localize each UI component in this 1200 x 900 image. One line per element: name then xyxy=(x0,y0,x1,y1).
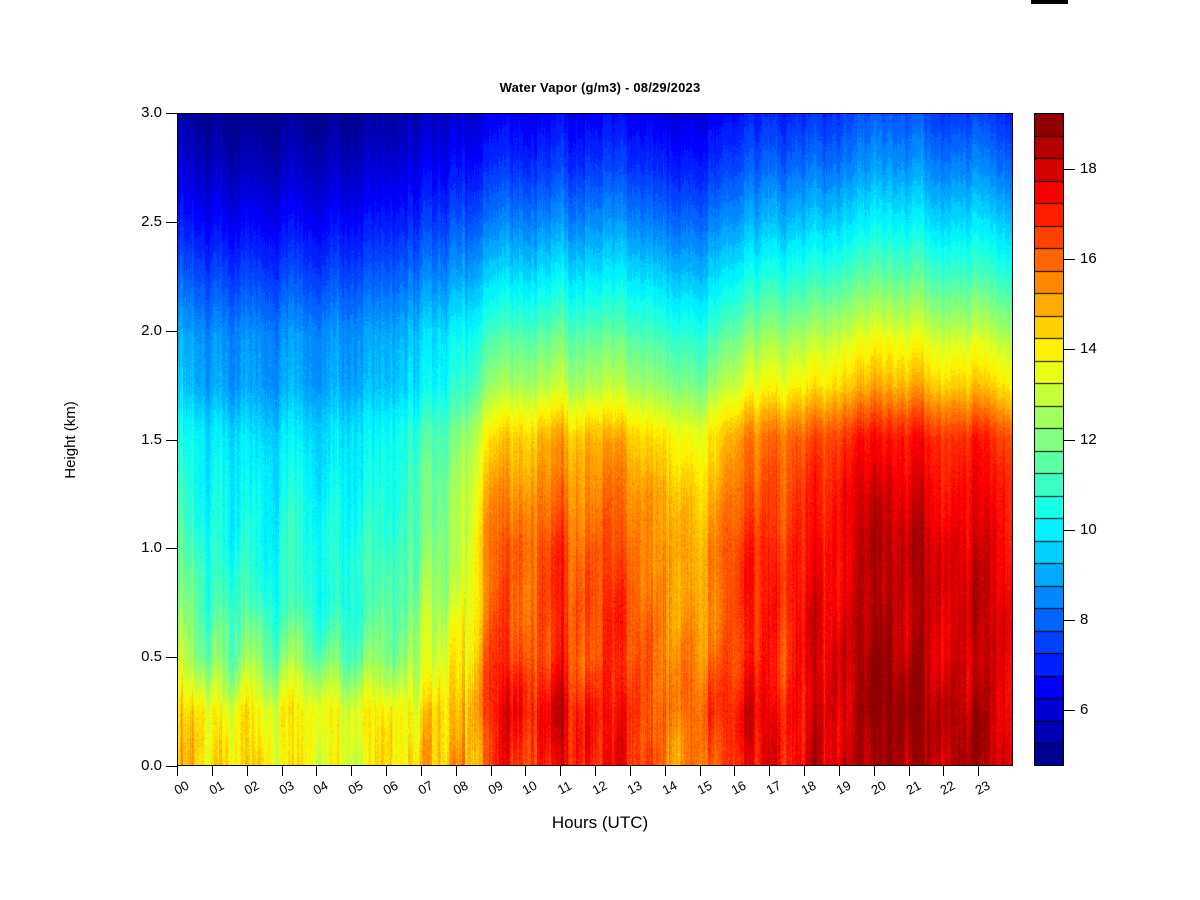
x-tick-label: 09 xyxy=(485,778,505,798)
x-tick-mark xyxy=(769,766,770,776)
x-tick-label: 16 xyxy=(729,778,749,798)
top-edge-artifact xyxy=(1031,0,1068,4)
x-tick-label: 11 xyxy=(555,778,574,798)
colorbar-tick-label: 18 xyxy=(1080,160,1097,177)
x-tick-mark xyxy=(978,766,979,776)
colorbar-tick-mark xyxy=(1064,710,1075,711)
y-tick-label: 3.0 xyxy=(141,104,162,121)
x-tick-mark xyxy=(874,766,875,776)
colorbar-tick-mark xyxy=(1064,620,1075,621)
x-tick-mark xyxy=(630,766,631,776)
x-tick-mark xyxy=(456,766,457,776)
y-tick-mark xyxy=(166,657,177,658)
x-axis-label: Hours (UTC) xyxy=(0,813,1200,833)
y-tick-mark xyxy=(166,766,177,767)
colorbar-tick-mark xyxy=(1064,530,1075,531)
plot-title: Water Vapor (g/m3) - 08/29/2023 xyxy=(0,80,1200,95)
x-tick-label: 03 xyxy=(276,778,296,798)
colorbar-tick-mark xyxy=(1064,349,1075,350)
x-tick-mark xyxy=(177,766,178,776)
x-tick-mark xyxy=(804,766,805,776)
y-tick-mark xyxy=(166,222,177,223)
x-tick-mark xyxy=(943,766,944,776)
x-tick-mark xyxy=(909,766,910,776)
x-tick-label: 08 xyxy=(450,778,470,798)
x-tick-mark xyxy=(560,766,561,776)
x-tick-label: 02 xyxy=(241,778,261,798)
y-tick-label: 0.5 xyxy=(141,648,162,665)
x-tick-label: 23 xyxy=(973,778,993,798)
x-tick-label: 20 xyxy=(868,778,888,798)
colorbar-tick-mark xyxy=(1064,440,1075,441)
x-tick-label: 21 xyxy=(903,778,923,798)
y-tick-label: 2.5 xyxy=(141,213,162,230)
x-tick-mark xyxy=(665,766,666,776)
colorbar-gradient xyxy=(1034,113,1064,766)
colorbar-tick-mark xyxy=(1064,169,1075,170)
x-tick-label: 22 xyxy=(938,778,958,798)
x-tick-mark xyxy=(247,766,248,776)
x-tick-label: 14 xyxy=(659,778,679,798)
y-tick-mark xyxy=(166,548,177,549)
x-tick-mark xyxy=(212,766,213,776)
x-tick-mark xyxy=(316,766,317,776)
y-tick-label: 1.0 xyxy=(141,539,162,556)
x-tick-mark xyxy=(525,766,526,776)
y-tick-mark xyxy=(166,113,177,114)
colorbar-tick-label: 14 xyxy=(1080,340,1097,357)
x-tick-mark xyxy=(734,766,735,776)
y-axis-label: Height (km) xyxy=(62,401,79,479)
y-tick-mark xyxy=(166,331,177,332)
y-tick-label: 0.0 xyxy=(141,757,162,774)
colorbar-tick-mark xyxy=(1064,259,1075,260)
colorbar-tick-label: 8 xyxy=(1080,611,1088,628)
y-tick-label: 2.0 xyxy=(141,322,162,339)
x-tick-label: 06 xyxy=(381,778,401,798)
x-tick-mark xyxy=(491,766,492,776)
x-tick-label: 04 xyxy=(311,778,331,798)
x-tick-label: 18 xyxy=(799,778,819,798)
x-tick-label: 05 xyxy=(346,778,366,798)
x-tick-label: 07 xyxy=(415,778,435,798)
x-tick-mark xyxy=(421,766,422,776)
y-tick-label: 1.5 xyxy=(141,431,162,448)
x-tick-mark xyxy=(351,766,352,776)
x-tick-label: 17 xyxy=(764,778,784,798)
x-tick-mark xyxy=(839,766,840,776)
colorbar-tick-label: 6 xyxy=(1080,701,1088,718)
x-tick-label: 19 xyxy=(833,778,853,798)
x-tick-label: 10 xyxy=(520,778,540,798)
x-tick-mark xyxy=(282,766,283,776)
colorbar-tick-label: 16 xyxy=(1080,250,1097,267)
colorbar-tick-label: 10 xyxy=(1080,521,1097,538)
x-tick-label: 12 xyxy=(590,778,610,798)
x-tick-mark xyxy=(595,766,596,776)
x-tick-label: 00 xyxy=(172,778,192,798)
y-tick-mark xyxy=(166,440,177,441)
x-tick-mark xyxy=(386,766,387,776)
x-tick-label: 15 xyxy=(694,778,714,798)
colorbar-tick-label: 12 xyxy=(1080,431,1097,448)
heatmap-curtain xyxy=(177,113,1013,766)
x-tick-label: 01 xyxy=(206,778,226,798)
x-tick-mark xyxy=(700,766,701,776)
figure-canvas: Water Vapor (g/m3) - 08/29/2023 0.00.51.… xyxy=(0,0,1200,900)
x-tick-label: 13 xyxy=(624,778,644,798)
